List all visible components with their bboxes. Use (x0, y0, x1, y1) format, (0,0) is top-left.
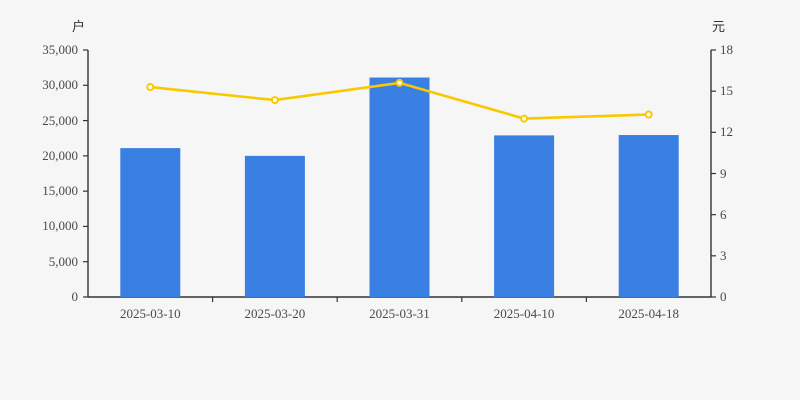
left-axis-tick-label: 20,000 (0, 149, 78, 162)
category-axis-ticks (213, 297, 587, 302)
left-axis-tick-label: 5,000 (0, 255, 78, 268)
chart-container: 户 元 05,00010,00015,00020,00025,00030,000… (0, 0, 800, 400)
line-point-marker[interactable] (646, 111, 652, 117)
right-axis-tick-label: 15 (720, 84, 733, 97)
line-point-marker[interactable] (147, 84, 153, 90)
category-axis-label: 2025-03-31 (337, 307, 462, 321)
bar[interactable] (245, 156, 305, 297)
left-axis-tick-label: 10,000 (0, 219, 78, 232)
category-axis-label: 2025-04-10 (462, 307, 587, 321)
left-axis-tick-label: 30,000 (0, 78, 78, 91)
right-axis-tick-label: 3 (720, 249, 727, 262)
right-axis-tick-label: 12 (720, 125, 733, 138)
line-point-marker[interactable] (272, 97, 278, 103)
right-axis-tick-label: 0 (720, 290, 727, 303)
left-axis-tick-label: 35,000 (0, 43, 78, 56)
right-axis-tick-label: 6 (720, 208, 727, 221)
line-point-marker[interactable] (397, 80, 403, 86)
chart-plot-area (0, 0, 800, 400)
left-axis-tick-label: 15,000 (0, 184, 78, 197)
bar[interactable] (120, 148, 180, 297)
right-axis-ticks (711, 50, 716, 297)
line-point-marker[interactable] (521, 116, 527, 122)
right-axis-tick-label: 9 (720, 167, 727, 180)
bar[interactable] (619, 135, 679, 297)
right-axis-tick-label: 18 (720, 43, 733, 56)
left-axis-tick-label: 0 (0, 290, 78, 303)
left-axis-tick-label: 25,000 (0, 114, 78, 127)
category-axis-label: 2025-03-10 (88, 307, 213, 321)
category-axis-label: 2025-03-20 (213, 307, 338, 321)
bar[interactable] (494, 135, 554, 297)
category-axis-label: 2025-04-18 (586, 307, 711, 321)
bar-series (120, 78, 678, 297)
bar[interactable] (370, 78, 430, 297)
left-axis-ticks (83, 50, 88, 297)
